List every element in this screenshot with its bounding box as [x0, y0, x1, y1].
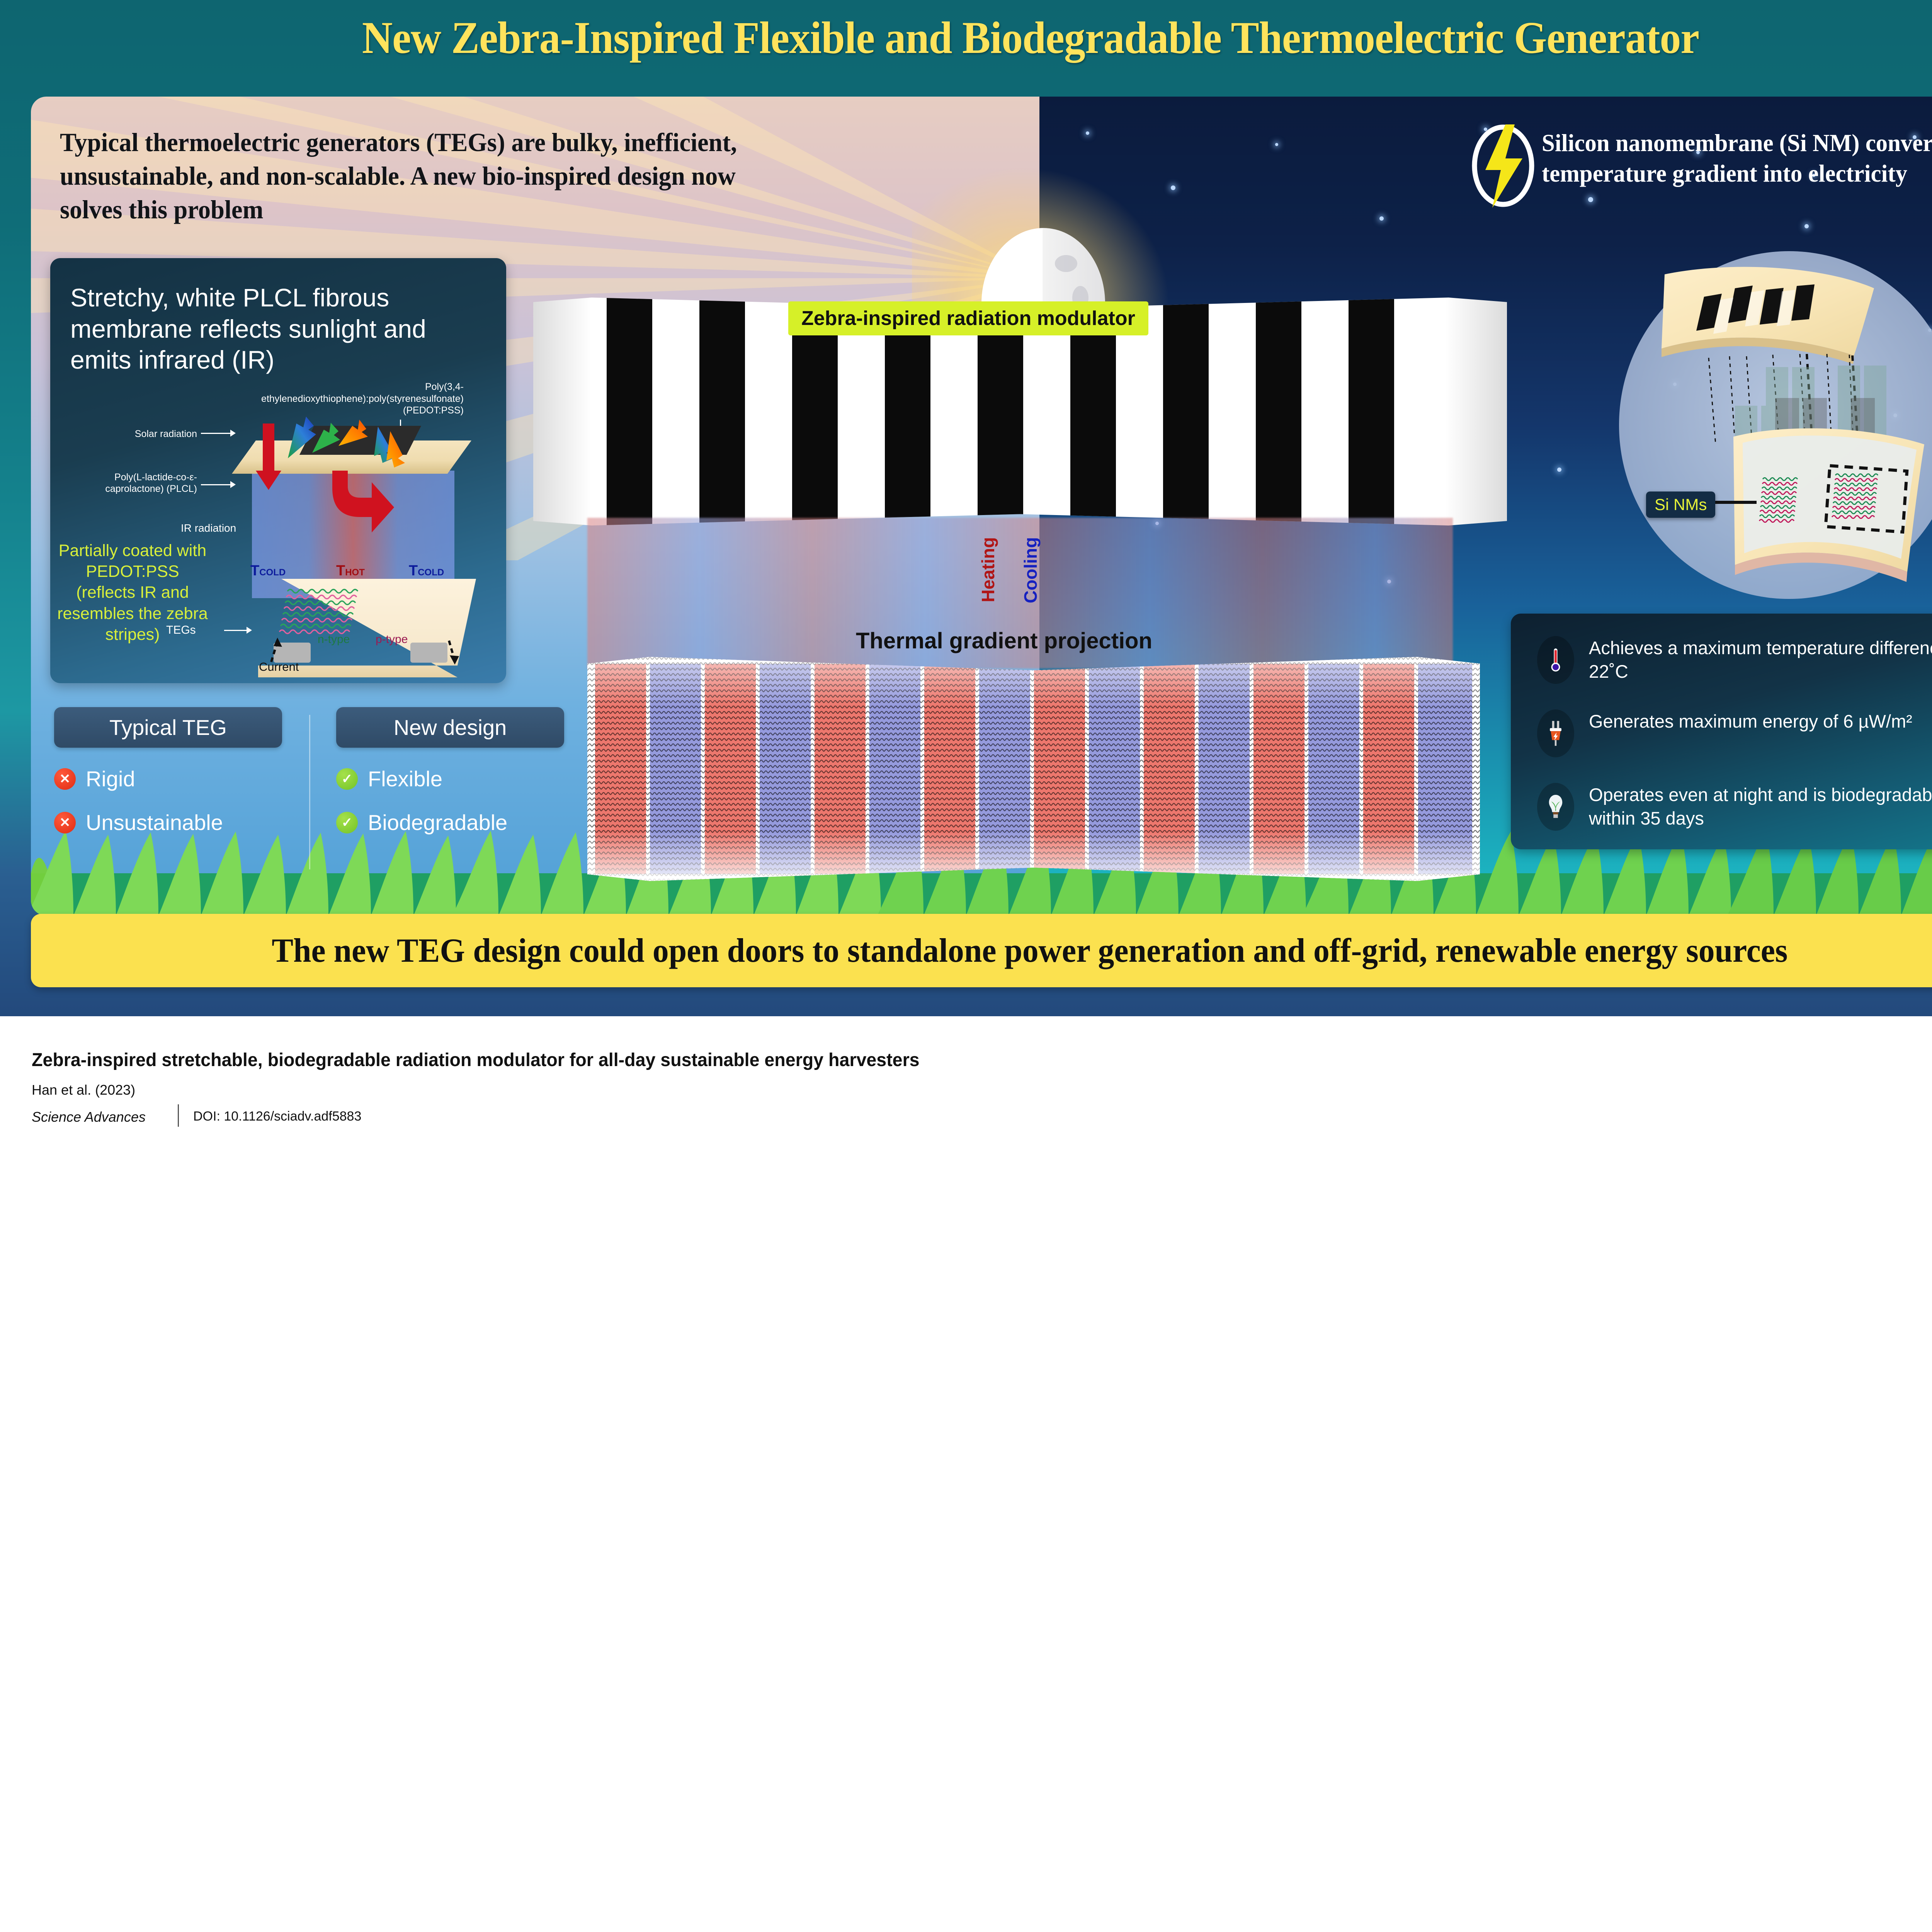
comparison-column-new: New design ✓ Flexible ✓ Biodegradable	[336, 707, 564, 835]
thermometer-icon	[1537, 636, 1574, 684]
infographic-root: New Zebra-Inspired Flexible and Biodegra…	[0, 0, 1932, 1159]
comparison-item-label: Rigid	[86, 766, 135, 791]
p-type-label: p-type	[376, 633, 408, 646]
footer-divider	[178, 1104, 179, 1127]
new-design-header: New design	[336, 707, 564, 748]
fact-row: Achieves a maximum temperature differenc…	[1537, 636, 1932, 684]
fact-text: Achieves a maximum temperature differenc…	[1589, 636, 1932, 683]
comparison-divider	[309, 715, 310, 869]
fact-text: Generates maximum energy of 6 µW/m²	[1589, 709, 1932, 733]
si-nm-illustration	[1619, 251, 1932, 599]
cooling-label: Cooling	[1020, 537, 1041, 603]
journal-name: Science Advances	[32, 1109, 146, 1125]
lightning-bolt-icon	[1468, 123, 1538, 209]
current-label: Current	[259, 660, 299, 674]
check-icon: ✓	[336, 768, 358, 790]
cross-icon: ✕	[54, 768, 76, 790]
paper-doi[interactable]: DOI: 10.1126/sciadv.adf5883	[193, 1109, 361, 1124]
comparison-item: ✓ Flexible	[336, 766, 564, 791]
fact-row: Generates maximum energy of 6 µW/m²	[1537, 709, 1932, 757]
t-hot-label: THOT	[336, 563, 365, 579]
t-cold-right-label: TCOLD	[409, 563, 444, 579]
page-title: New Zebra-Inspired Flexible and Biodegra…	[72, 12, 1932, 64]
thermal-gradient-sheet	[587, 657, 1480, 881]
heating-label: Heating	[978, 537, 998, 602]
plcl-panel: Stretchy, white PLCL fibrous membrane re…	[50, 258, 506, 683]
si-nm-sheets	[1619, 251, 1932, 599]
plcl-panel-heading: Stretchy, white PLCL fibrous membrane re…	[70, 282, 468, 376]
comparison-item-label: Biodegradable	[368, 810, 507, 835]
paper-authors: Han et al. (2023)	[32, 1082, 135, 1098]
comparison-block: Typical TEG ✕ Rigid ✕ Unsustainable New …	[54, 707, 576, 881]
n-type-label: n-type	[318, 633, 350, 646]
key-facts-panel: Achieves a maximum temperature differenc…	[1511, 614, 1932, 849]
plcl-material-label: Poly(L-lactide-co-ε-caprolactone) (PLCL)	[58, 471, 197, 495]
comparison-item: ✓ Biodegradable	[336, 810, 564, 835]
footer: Zebra-inspired stretchable, biodegradabl…	[0, 1016, 1932, 1159]
comparison-column-typical: Typical TEG ✕ Rigid ✕ Unsustainable	[54, 707, 282, 835]
t-cold-left-label: TCOLD	[250, 563, 286, 579]
eco-bulb-icon	[1537, 783, 1574, 831]
teg-3d-stack: TCOLD THOT TCOLD	[216, 413, 495, 679]
zebra-modulator-chip: Zebra-inspired radiation modulator	[788, 301, 1148, 335]
banner-text: The new TEG design could open doors to s…	[272, 931, 1787, 970]
si-nm-heading: Silicon nanomembrane (Si NM) converts te…	[1542, 128, 1932, 189]
pedot-coating-note: Partially coated with PEDOT:PSS (reflect…	[57, 540, 208, 645]
key-takeaway-banner: The new TEG design could open doors to s…	[31, 914, 1932, 987]
fact-row: Operates even at night and is biodegrada…	[1537, 783, 1932, 831]
heat-down-arrow	[328, 471, 398, 556]
thermal-stripe-pattern	[587, 657, 1480, 881]
comparison-item: ✕ Rigid	[54, 766, 282, 791]
intro-paragraph: Typical thermoelectric generators (TEGs)…	[60, 126, 757, 226]
thermal-gradient-caption: Thermal gradient projection	[856, 628, 1152, 654]
pedot-pss-label: Poly(3,4-ethylenedioxythiophene):poly(st…	[232, 381, 464, 417]
cross-icon: ✕	[54, 812, 76, 833]
comparison-item: ✕ Unsustainable	[54, 810, 282, 835]
si-nms-tag: Si NMs	[1646, 492, 1715, 518]
paper-title: Zebra-inspired stretchable, biodegradabl…	[32, 1049, 920, 1071]
check-icon: ✓	[336, 812, 358, 833]
comparison-item-label: Flexible	[368, 766, 442, 791]
fact-text: Operates even at night and is biodegrada…	[1589, 783, 1932, 830]
plcl-diagram: Poly(3,4-ethylenedioxythiophene):poly(st…	[50, 374, 506, 679]
comparison-item-label: Unsustainable	[86, 810, 223, 835]
typical-teg-header: Typical TEG	[54, 707, 282, 748]
solar-radiation-label: Solar radiation	[73, 428, 197, 440]
power-plug-icon	[1537, 709, 1574, 757]
